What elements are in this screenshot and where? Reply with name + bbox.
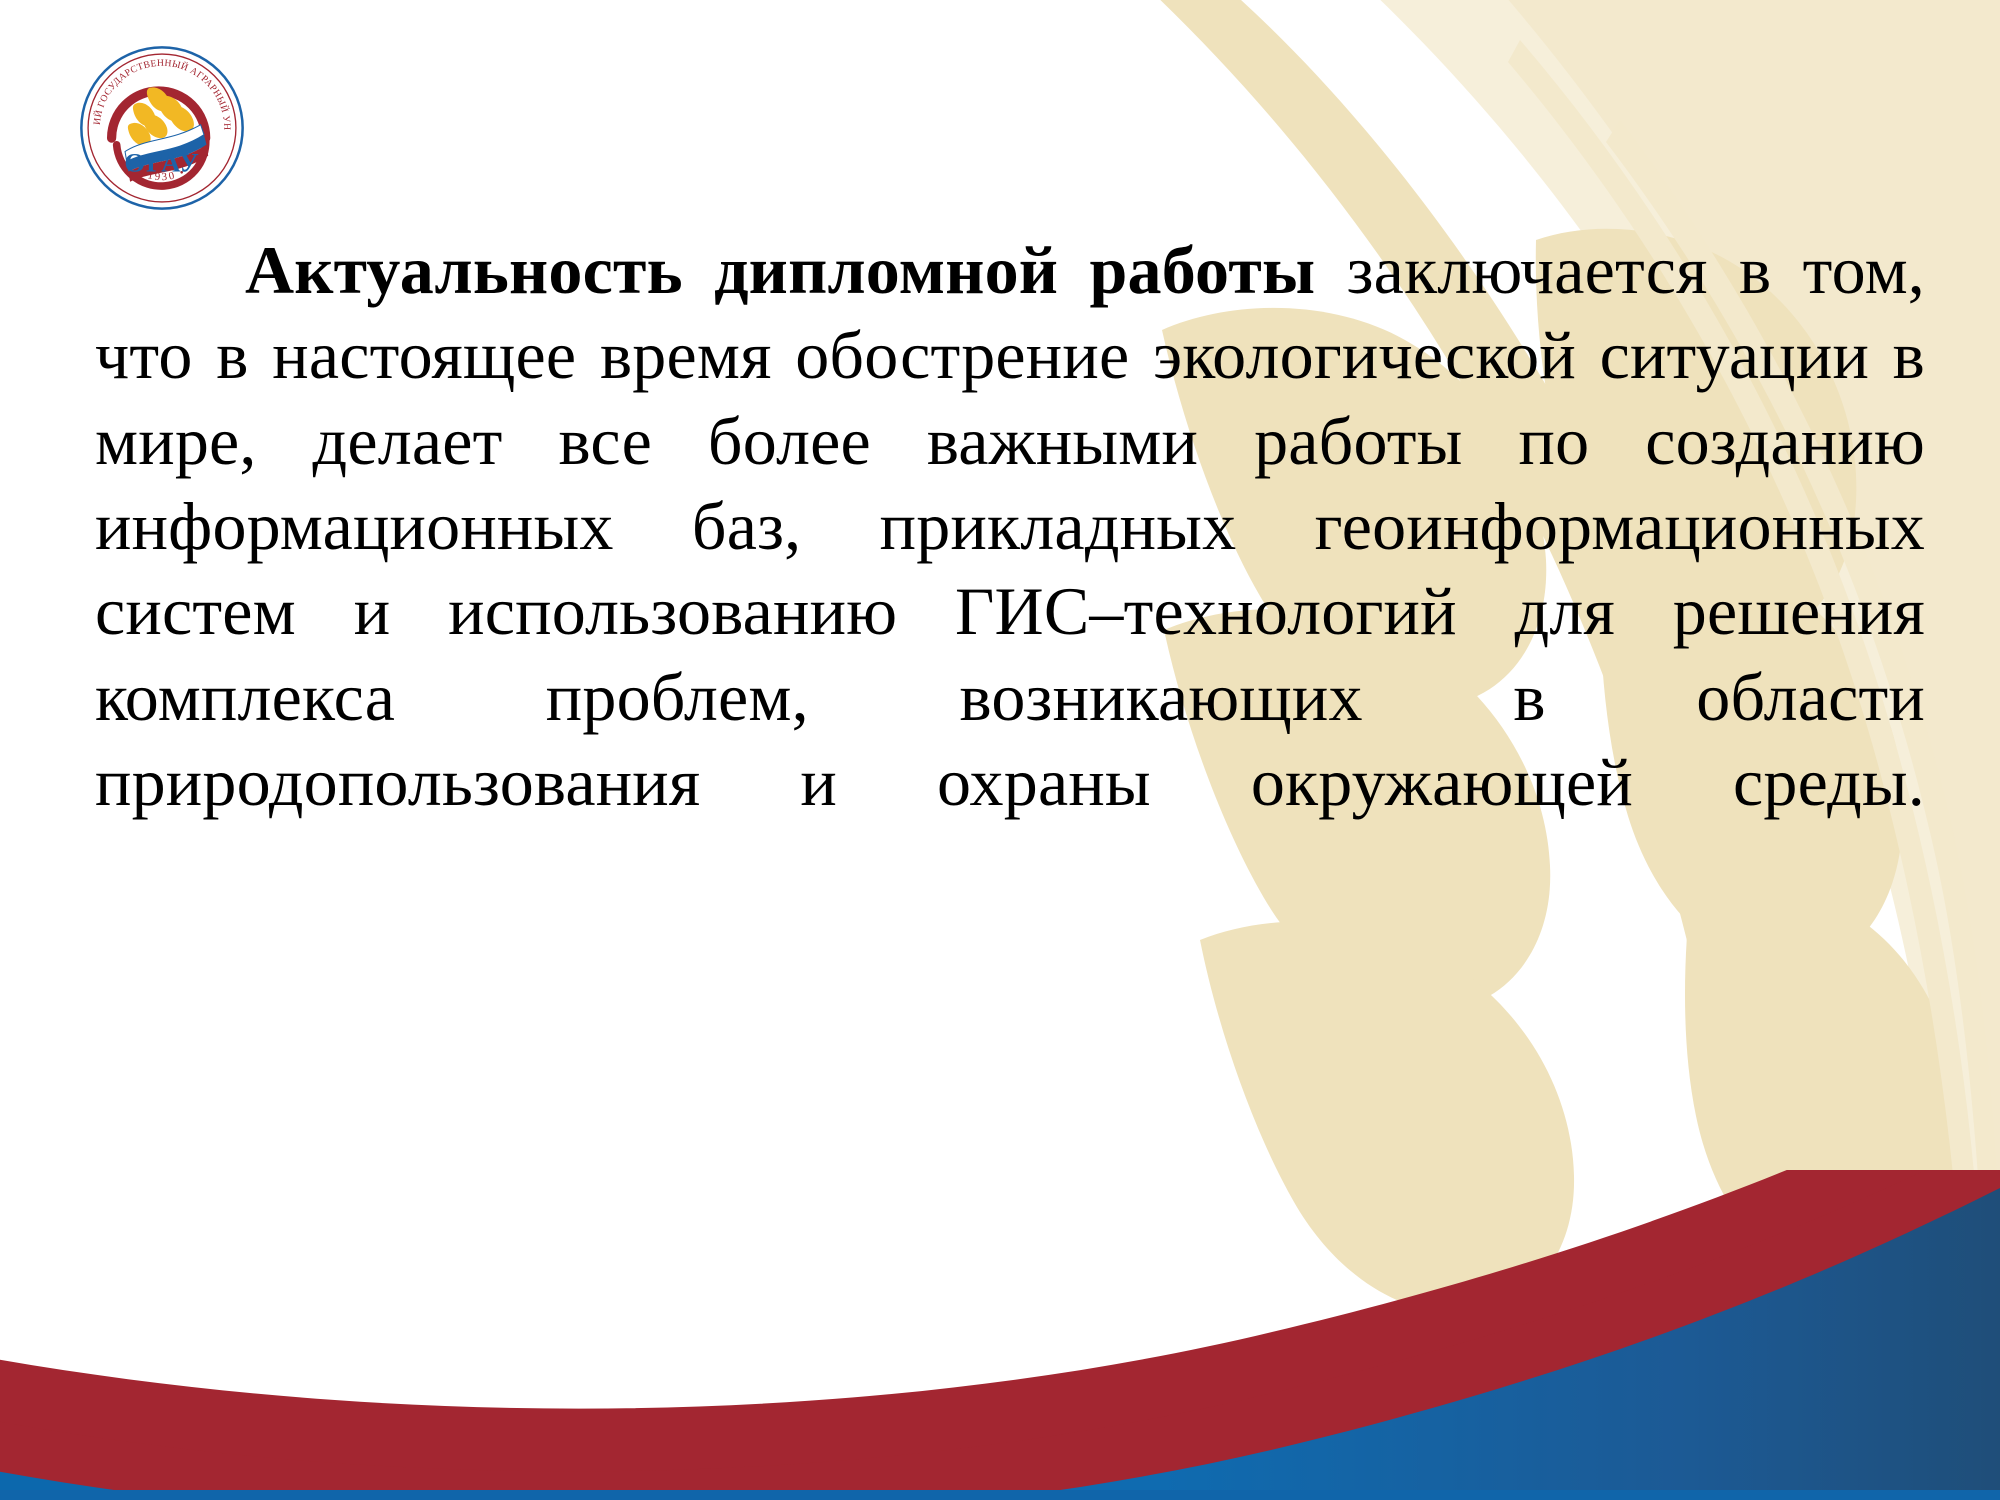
- paragraph-lead-bold: Актуальность дипломной работы: [245, 232, 1315, 308]
- bottom-ribbon-decoration: [0, 1170, 2000, 1500]
- paragraph-actuality: Актуальность дипломной работы заключаетс…: [95, 228, 1925, 911]
- slide-content-body: Актуальность дипломной работы заключаетс…: [95, 228, 1925, 911]
- ogau-logo: ОРЕНБУРГСКИЙ ГОСУДАРСТВЕННЫЙ АГРАРНЫЙ УН…: [78, 44, 246, 212]
- paragraph-rest: заключается в том, что в настоящее время…: [95, 232, 1925, 820]
- presentation-slide: ОРЕНБУРГСКИЙ ГОСУДАРСТВЕННЫЙ АГРАРНЫЙ УН…: [0, 0, 2000, 1500]
- logo-acronym: ОГАУ: [124, 148, 199, 178]
